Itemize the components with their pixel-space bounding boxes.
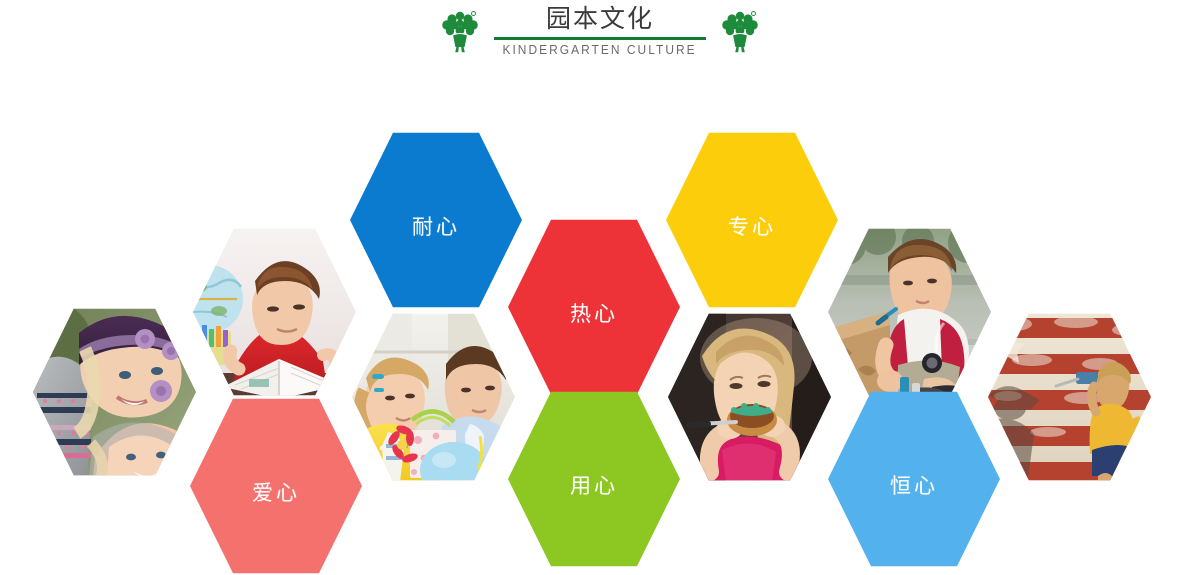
honeycomb-grid: 耐心 爱心	[0, 0, 1200, 557]
hex-cell-photo-flag-mural[interactable]	[988, 312, 1151, 482]
hex-cell-hex-rexin[interactable]: 热心	[508, 218, 680, 396]
photo-photo-flag-mural	[988, 312, 1151, 482]
hex-cell-photo-hug[interactable]	[33, 307, 196, 477]
hex-label-hex-yongxin: 用心	[570, 470, 618, 500]
hex-label-hex-hengxin: 恒心	[890, 470, 938, 500]
hex-cell-photo-painting-box[interactable]	[828, 227, 991, 397]
hex-cell-hex-yongxin[interactable]: 用心	[508, 390, 680, 568]
hex-cell-hex-hengxin[interactable]: 恒心	[828, 390, 1000, 568]
hex-cell-photo-reading[interactable]	[193, 227, 356, 397]
hex-cell-hex-zhuanxin[interactable]: 专心	[666, 131, 838, 309]
hex-cell-photo-cupcake[interactable]	[668, 312, 831, 482]
hex-label-hex-aixin: 爱心	[252, 477, 300, 507]
hex-label-hex-rexin: 热心	[570, 298, 618, 328]
hex-cell-hex-naixin[interactable]: 耐心	[350, 131, 522, 309]
photo-photo-painting-box	[828, 227, 991, 397]
photo-photo-gift	[352, 312, 515, 482]
photo-photo-hug	[33, 307, 196, 477]
hex-label-hex-zhuanxin: 专心	[728, 211, 776, 241]
hex-label-hex-naixin: 耐心	[412, 211, 460, 241]
hex-cell-hex-aixin[interactable]: 爱心	[190, 397, 362, 575]
hex-cell-photo-gift[interactable]	[352, 312, 515, 482]
photo-photo-cupcake	[668, 312, 831, 482]
photo-photo-reading	[193, 227, 356, 397]
